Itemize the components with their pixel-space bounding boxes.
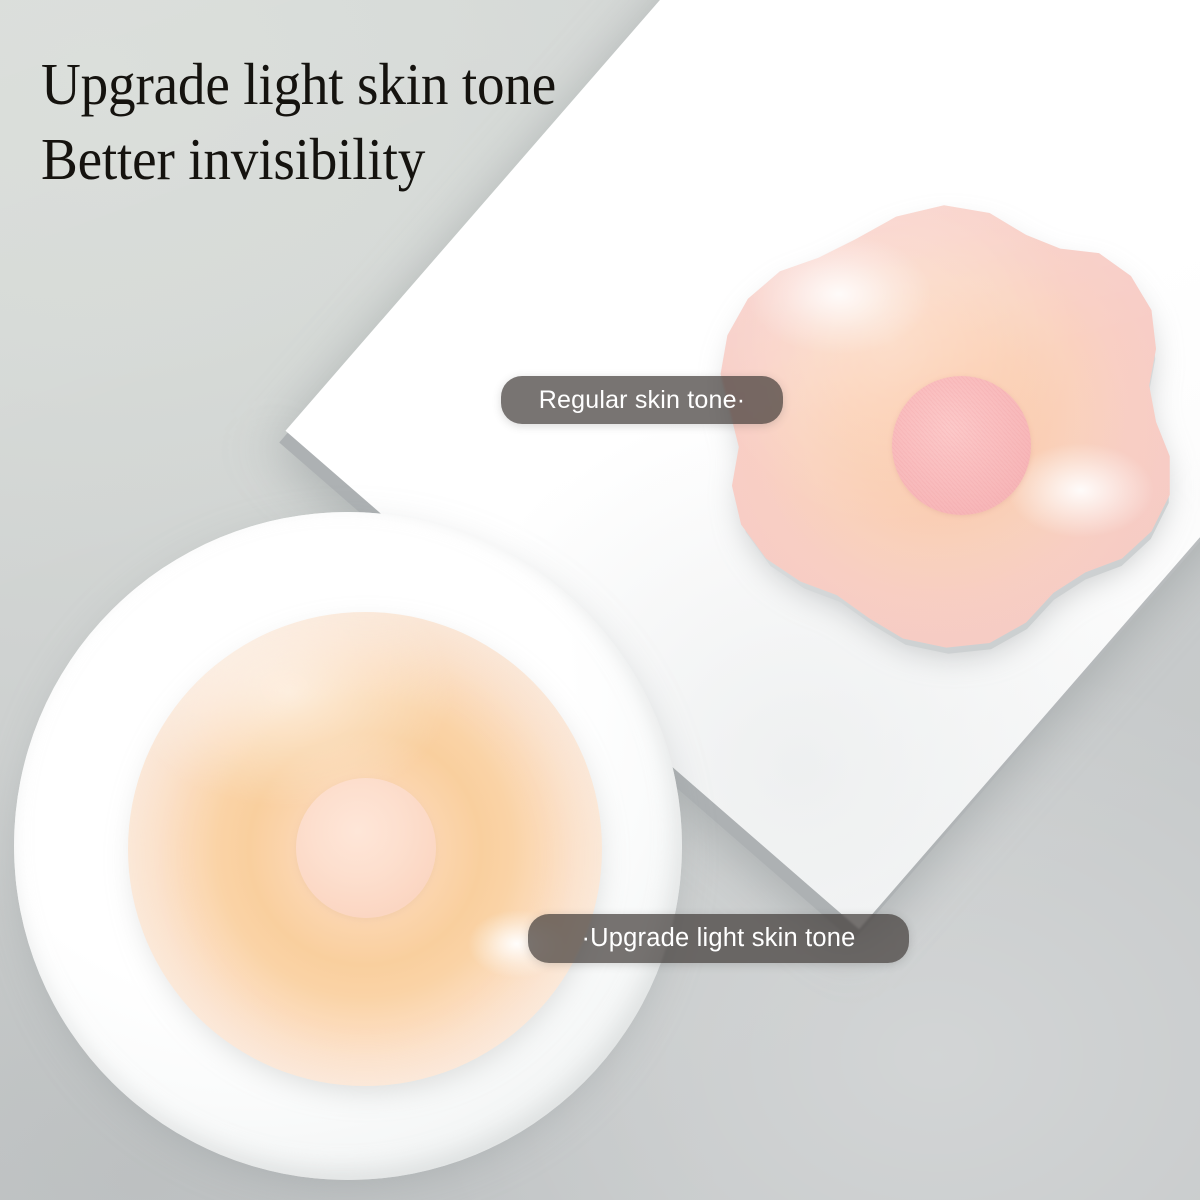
- headline: Upgrade light skin tone Better invisibil…: [41, 47, 556, 197]
- label-upgrade-light-skin-tone: ·Upgrade light skin tone: [528, 914, 909, 963]
- product-image-canvas: Regular skin tone· ·Upgrade light skin t…: [0, 0, 1200, 1200]
- product-round-pad: [128, 612, 602, 1086]
- label-regular-skin-tone: Regular skin tone·: [501, 376, 783, 424]
- headline-line-2: Better invisibility: [41, 122, 556, 197]
- product-flower-pad: [716, 203, 1172, 659]
- headline-line-1: Upgrade light skin tone: [41, 47, 556, 122]
- disc-center-circle: [296, 778, 436, 918]
- flower-center-circle: [892, 376, 1031, 515]
- white-round-plate: [14, 512, 682, 1180]
